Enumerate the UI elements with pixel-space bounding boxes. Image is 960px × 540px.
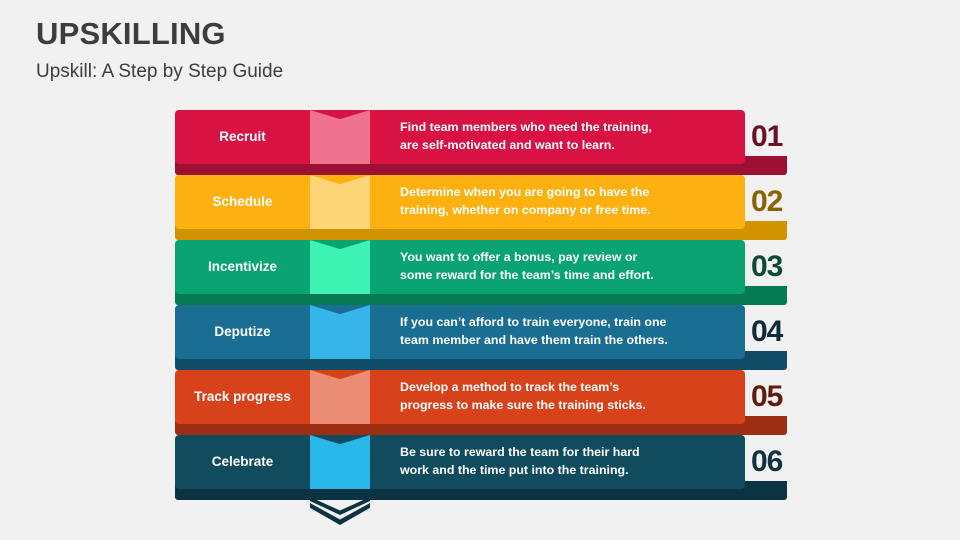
step-description: If you can’t afford to train everyone, t… [400, 305, 738, 359]
step-description-line1: Be sure to reward the team for their har… [400, 444, 738, 462]
step-description: You want to offer a bonus, pay review or… [400, 240, 738, 294]
page-title: UPSKILLING [36, 16, 736, 52]
header: UPSKILLING Upskill: A Step by Step Guide [36, 16, 736, 83]
step-label: Track progress [175, 370, 310, 424]
step-number: 05 [745, 370, 791, 424]
step-row[interactable]: DeputizeIf you can’t afford to train eve… [175, 305, 787, 370]
step-number: 03 [745, 240, 791, 294]
step-description-line2: team member and have them train the othe… [400, 332, 738, 350]
chevron-down-icon [310, 175, 370, 229]
step-description-line2: work and the time put into the training. [400, 462, 738, 480]
step-description-line1: If you can’t afford to train everyone, t… [400, 314, 738, 332]
step-description-line1: You want to offer a bonus, pay review or [400, 249, 738, 267]
step-bar[interactable]: ScheduleDetermine when you are going to … [175, 175, 745, 229]
step-bar[interactable]: CelebrateBe sure to reward the team for … [175, 435, 745, 489]
step-label: Recruit [175, 110, 310, 164]
step-bar[interactable]: RecruitFind team members who need the tr… [175, 110, 745, 164]
step-description-line2: are self-motivated and want to learn. [400, 137, 738, 155]
step-description-line2: progress to make sure the training stick… [400, 397, 738, 415]
step-description-line2: some reward for the team’s time and effo… [400, 267, 738, 285]
step-number: 06 [745, 435, 791, 489]
step-row[interactable]: IncentivizeYou want to offer a bonus, pa… [175, 240, 787, 305]
chevron-down-icon [310, 305, 370, 359]
step-description: Develop a method to track the team’sprog… [400, 370, 738, 424]
step-label: Deputize [175, 305, 310, 359]
chevron-down-icon [310, 435, 370, 489]
step-description: Find team members who need the training,… [400, 110, 738, 164]
steps-list: RecruitFind team members who need the tr… [175, 110, 795, 520]
step-description-line1: Determine when you are going to have the [400, 184, 738, 202]
step-number: 04 [745, 305, 791, 359]
step-label: Celebrate [175, 435, 310, 489]
step-row[interactable]: RecruitFind team members who need the tr… [175, 110, 787, 175]
step-bar[interactable]: DeputizeIf you can’t afford to train eve… [175, 305, 745, 359]
step-label: Schedule [175, 175, 310, 229]
step-description-line2: training, whether on company or free tim… [400, 202, 738, 220]
step-number: 01 [745, 110, 791, 164]
step-description-line1: Develop a method to track the team’s [400, 379, 738, 397]
step-description: Determine when you are going to have the… [400, 175, 738, 229]
step-row[interactable]: CelebrateBe sure to reward the team for … [175, 435, 787, 500]
chevron-down-icon [310, 110, 370, 164]
step-description: Be sure to reward the team for their har… [400, 435, 738, 489]
step-label: Incentivize [175, 240, 310, 294]
chevron-down-icon [310, 370, 370, 424]
page-subtitle: Upskill: A Step by Step Guide [36, 61, 736, 84]
step-description-line1: Find team members who need the training, [400, 119, 738, 137]
step-bar[interactable]: Track progressDevelop a method to track … [175, 370, 745, 424]
step-bar[interactable]: IncentivizeYou want to offer a bonus, pa… [175, 240, 745, 294]
step-row[interactable]: Track progressDevelop a method to track … [175, 370, 787, 435]
chevron-down-icon [310, 240, 370, 294]
step-number: 02 [745, 175, 791, 229]
step-row[interactable]: ScheduleDetermine when you are going to … [175, 175, 787, 240]
